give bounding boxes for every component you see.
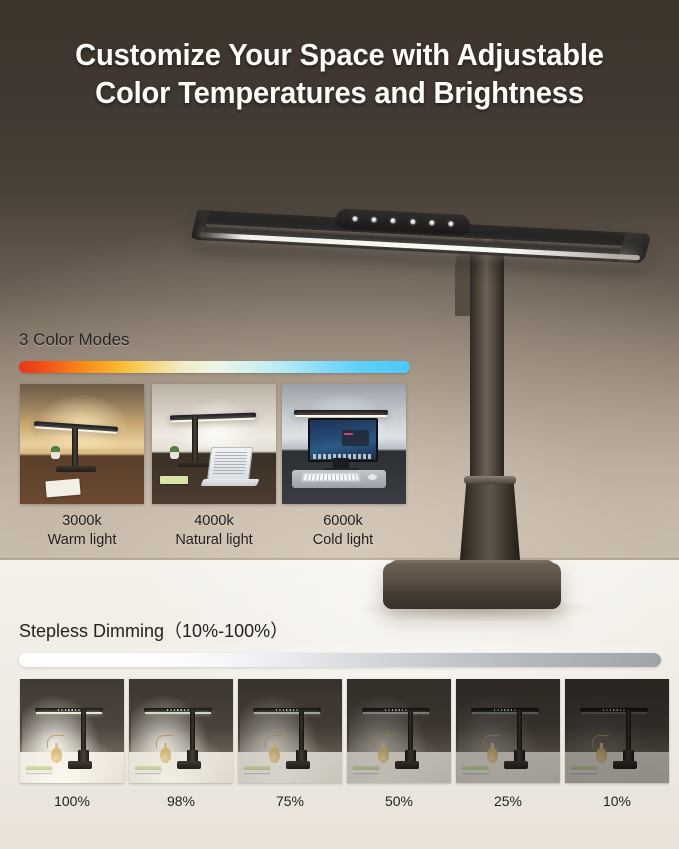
scene-warm-light bbox=[20, 384, 144, 504]
page-title: Customize Your Space with Adjustable Col… bbox=[20, 36, 658, 112]
color-mode-thumbnail-natural bbox=[152, 384, 276, 504]
plant-pot bbox=[51, 452, 60, 459]
dimming-level-label: 75% bbox=[238, 793, 342, 809]
color-mode-kelvin: 6000k bbox=[263, 512, 423, 531]
infographic-canvas: Customize Your Space with Adjustable Col… bbox=[0, 0, 679, 849]
headline-line-1: Customize Your Space with Adjustable bbox=[75, 37, 604, 72]
color-mode-thumbnail-cold bbox=[282, 384, 406, 504]
dimming-thumbnail bbox=[238, 679, 342, 783]
dimming-level-label: 98% bbox=[129, 793, 233, 809]
scene-natural-light bbox=[152, 384, 276, 504]
mouse-decor bbox=[368, 474, 377, 480]
dimming-level-label: 10% bbox=[565, 793, 669, 809]
dimming-thumbnail bbox=[565, 679, 669, 783]
dimming-thumbnails bbox=[0, 679, 679, 783]
plant-decor bbox=[169, 446, 180, 459]
dimming-thumbnail bbox=[129, 679, 233, 783]
dimming-section: Stepless Dimming（10%-100%） 100%98%75%50%… bbox=[0, 617, 679, 655]
dimming-level-label: 100% bbox=[20, 793, 124, 809]
thumb-dim-overlay bbox=[129, 679, 233, 783]
dimming-level-label: 25% bbox=[456, 793, 560, 809]
dimming-thumbnail bbox=[347, 679, 451, 783]
dimming-thumbnail bbox=[20, 679, 124, 783]
keyboard-keys bbox=[303, 475, 359, 481]
laptop-screen-text bbox=[213, 452, 248, 476]
mini-lamp-base bbox=[56, 466, 96, 472]
monitor-window-accent bbox=[344, 433, 352, 435]
notepad-decor bbox=[45, 479, 80, 498]
monitor-screen bbox=[308, 418, 378, 462]
monitor-window bbox=[342, 430, 370, 446]
thumb-dim-overlay bbox=[238, 679, 342, 783]
color-modes-title: 3 Color Modes bbox=[19, 330, 430, 350]
mini-lamp-post bbox=[192, 417, 198, 463]
mini-lamp-glow bbox=[295, 415, 387, 417]
color-modes-section: 3 Color Modes bbox=[0, 330, 430, 360]
color-modes-thumbnails bbox=[0, 384, 430, 504]
plant-decor bbox=[50, 446, 61, 459]
laptop-decor bbox=[202, 442, 262, 488]
book-decor bbox=[160, 476, 188, 484]
laptop-keyboard-deck bbox=[200, 479, 259, 486]
thumb-dim-overlay bbox=[565, 679, 669, 783]
color-temperature-gradient-bar bbox=[19, 361, 410, 373]
laptop-screen bbox=[207, 447, 253, 481]
dimming-title: Stepless Dimming（10%-100%） bbox=[19, 617, 679, 643]
plant-pot bbox=[170, 452, 179, 459]
color-mode-thumbnail-warm bbox=[20, 384, 144, 504]
color-mode-label-cold: 6000k Cold light bbox=[263, 512, 423, 550]
scene-cold-light bbox=[282, 384, 406, 504]
headline-line-2: Color Temperatures and Brightness bbox=[20, 74, 658, 112]
thumb-dim-overlay bbox=[347, 679, 451, 783]
brightness-gradient-bar bbox=[19, 653, 661, 667]
mini-lamp-post bbox=[72, 428, 78, 468]
dimming-labels: 100%98%75%50%25%10% bbox=[0, 793, 679, 815]
color-modes-labels: 3000k Warm light 4000k Natural light 600… bbox=[0, 512, 430, 556]
monitor-decor bbox=[308, 418, 374, 458]
dimming-level-label: 50% bbox=[347, 793, 451, 809]
color-mode-name: Cold light bbox=[263, 531, 423, 550]
keyboard-decor bbox=[301, 473, 362, 482]
dimming-thumbnail bbox=[456, 679, 560, 783]
thumb-dim-overlay bbox=[456, 679, 560, 783]
